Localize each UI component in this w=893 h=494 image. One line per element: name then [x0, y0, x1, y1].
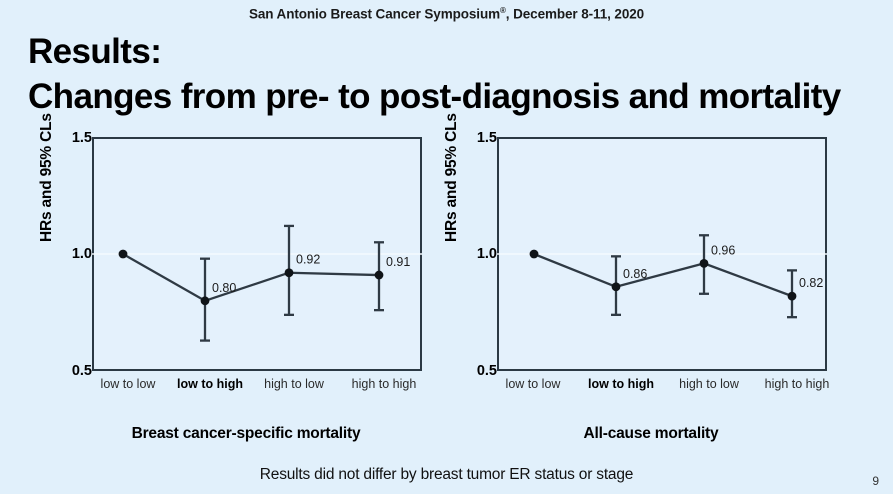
x-label-high-to-high: high to high [352, 377, 417, 391]
data-point-label: 0.82 [799, 276, 823, 290]
x-tick-labels: low to low low to high high to low high … [92, 377, 422, 399]
chart-panel-all-cause: HRs and 95% CLs 1.5 1.0 0.5 0.860.960.82… [441, 124, 861, 424]
data-point [700, 259, 709, 268]
data-point-label: 0.80 [212, 281, 236, 295]
slide: San Antonio Breast Cancer Symposium®, De… [0, 0, 893, 494]
data-point [201, 296, 210, 305]
data-point [530, 250, 539, 259]
data-point-label: 0.92 [296, 253, 320, 267]
caption-all-cause: All-cause mortality [441, 425, 861, 443]
y-tick-0.5: 0.5 [457, 363, 497, 379]
series-line [123, 254, 379, 301]
symposium-header: San Antonio Breast Cancer Symposium®, De… [0, 0, 893, 24]
caption-breast-cancer-specific: Breast cancer-specific mortality [36, 425, 456, 443]
data-point [375, 271, 384, 280]
symposium-name: San Antonio Breast Cancer Symposium [249, 7, 500, 22]
y-tick-0.5: 0.5 [52, 363, 92, 379]
footnote: Results did not differ by breast tumor E… [0, 466, 893, 484]
data-point [285, 268, 294, 277]
plot-area: 0.800.920.91 [92, 137, 422, 371]
y-tick-labels: 1.5 1.0 0.5 [455, 124, 497, 374]
plot-area: 0.860.960.82 [497, 137, 827, 371]
x-label-low-to-low: low to low [101, 377, 156, 391]
title-line-1: Results: [28, 30, 868, 75]
x-label-high-to-low: high to low [679, 377, 739, 391]
charts-row: HRs and 95% CLs 1.5 1.0 0.5 0.800.920.91… [0, 124, 893, 424]
data-point-label: 0.96 [711, 243, 735, 257]
y-tick-labels: 1.5 1.0 0.5 [50, 124, 92, 374]
data-point-label: 0.86 [623, 267, 647, 281]
data-point [612, 282, 621, 291]
y-tick-1.5: 1.5 [52, 130, 92, 146]
page-title: Results: Changes from pre- to post-diagn… [28, 30, 868, 120]
x-label-low-to-low: low to low [506, 377, 561, 391]
x-label-low-to-high: low to high [177, 377, 243, 391]
y-tick-1.0: 1.0 [52, 246, 92, 262]
data-point [119, 250, 128, 259]
data-point-label: 0.91 [386, 255, 410, 269]
x-label-low-to-high: low to high [588, 377, 654, 391]
symposium-dates: , December 8-11, 2020 [506, 7, 644, 22]
x-label-high-to-low: high to low [264, 377, 324, 391]
x-tick-labels: low to low low to high high to low high … [497, 377, 827, 399]
y-tick-1.0: 1.0 [457, 246, 497, 262]
slide-number: 9 [872, 474, 879, 488]
x-label-high-to-high: high to high [765, 377, 830, 391]
y-tick-1.5: 1.5 [457, 130, 497, 146]
chart-panel-breast-cancer-specific: HRs and 95% CLs 1.5 1.0 0.5 0.800.920.91… [36, 124, 456, 424]
data-point [788, 292, 797, 301]
series-line [534, 254, 792, 296]
